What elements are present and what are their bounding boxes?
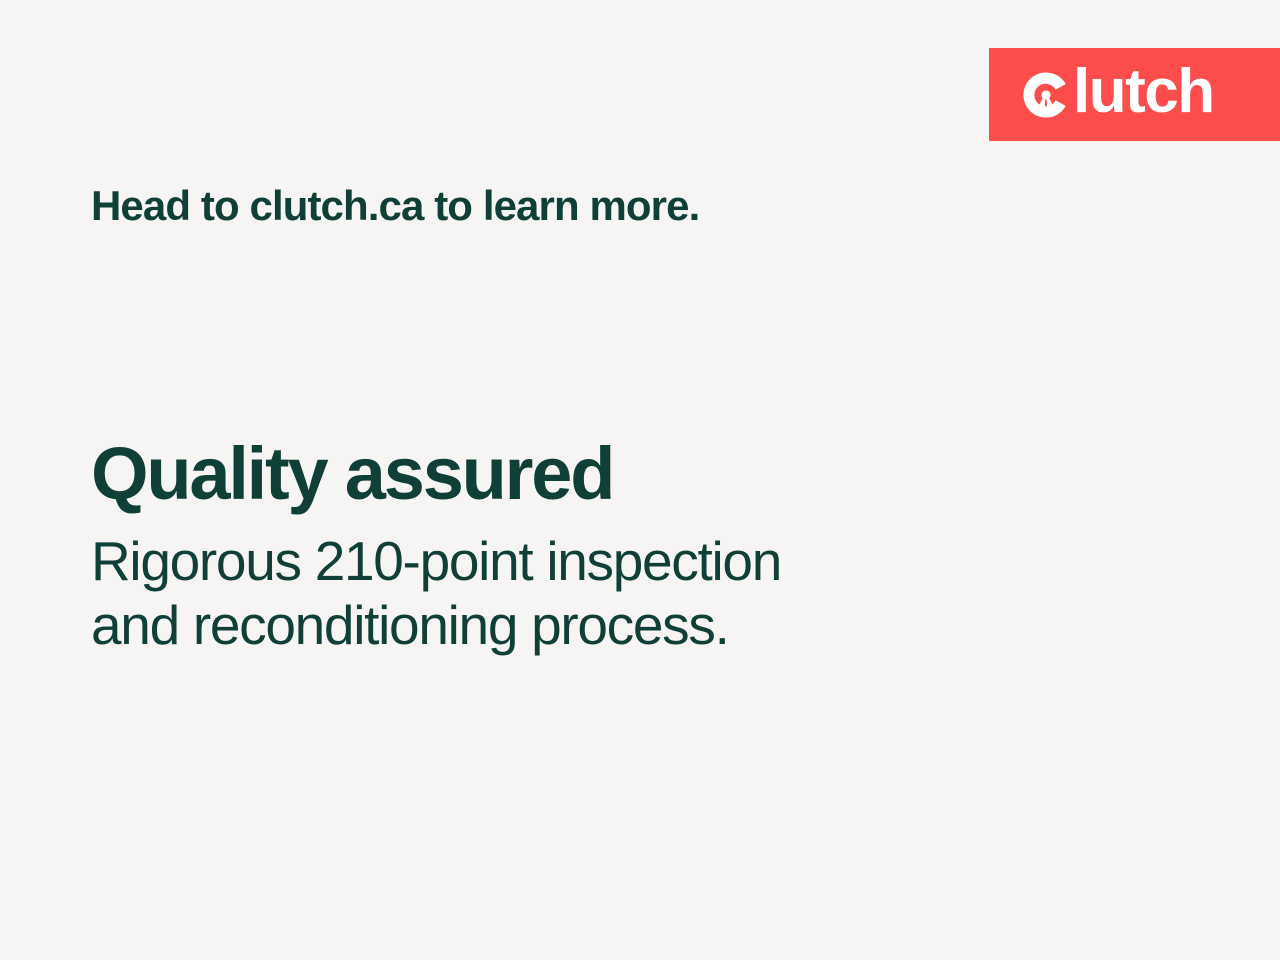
subcopy-line-1: Rigorous 210-point inspection [91, 529, 1051, 593]
subcopy-paragraph: Rigorous 210-point inspection and recond… [91, 529, 1051, 658]
subcopy-line-2: and reconditioning process. [91, 593, 1051, 657]
main-copy-block: Quality assured Rigorous 210-point inspe… [91, 437, 1051, 658]
page-title: Quality assured [91, 437, 1051, 511]
cta-eyebrow-text: Head to clutch.ca to learn more. [91, 181, 699, 231]
clutch-brand-banner[interactable]: lutch [989, 48, 1280, 141]
slide-canvas: lutch Head to clutch.ca to learn more. Q… [0, 0, 1280, 960]
clutch-wheel-mark-icon [1022, 71, 1070, 119]
clutch-wordmark: lutch [1073, 61, 1214, 123]
clutch-logo-lockup[interactable]: lutch [1022, 48, 1214, 141]
